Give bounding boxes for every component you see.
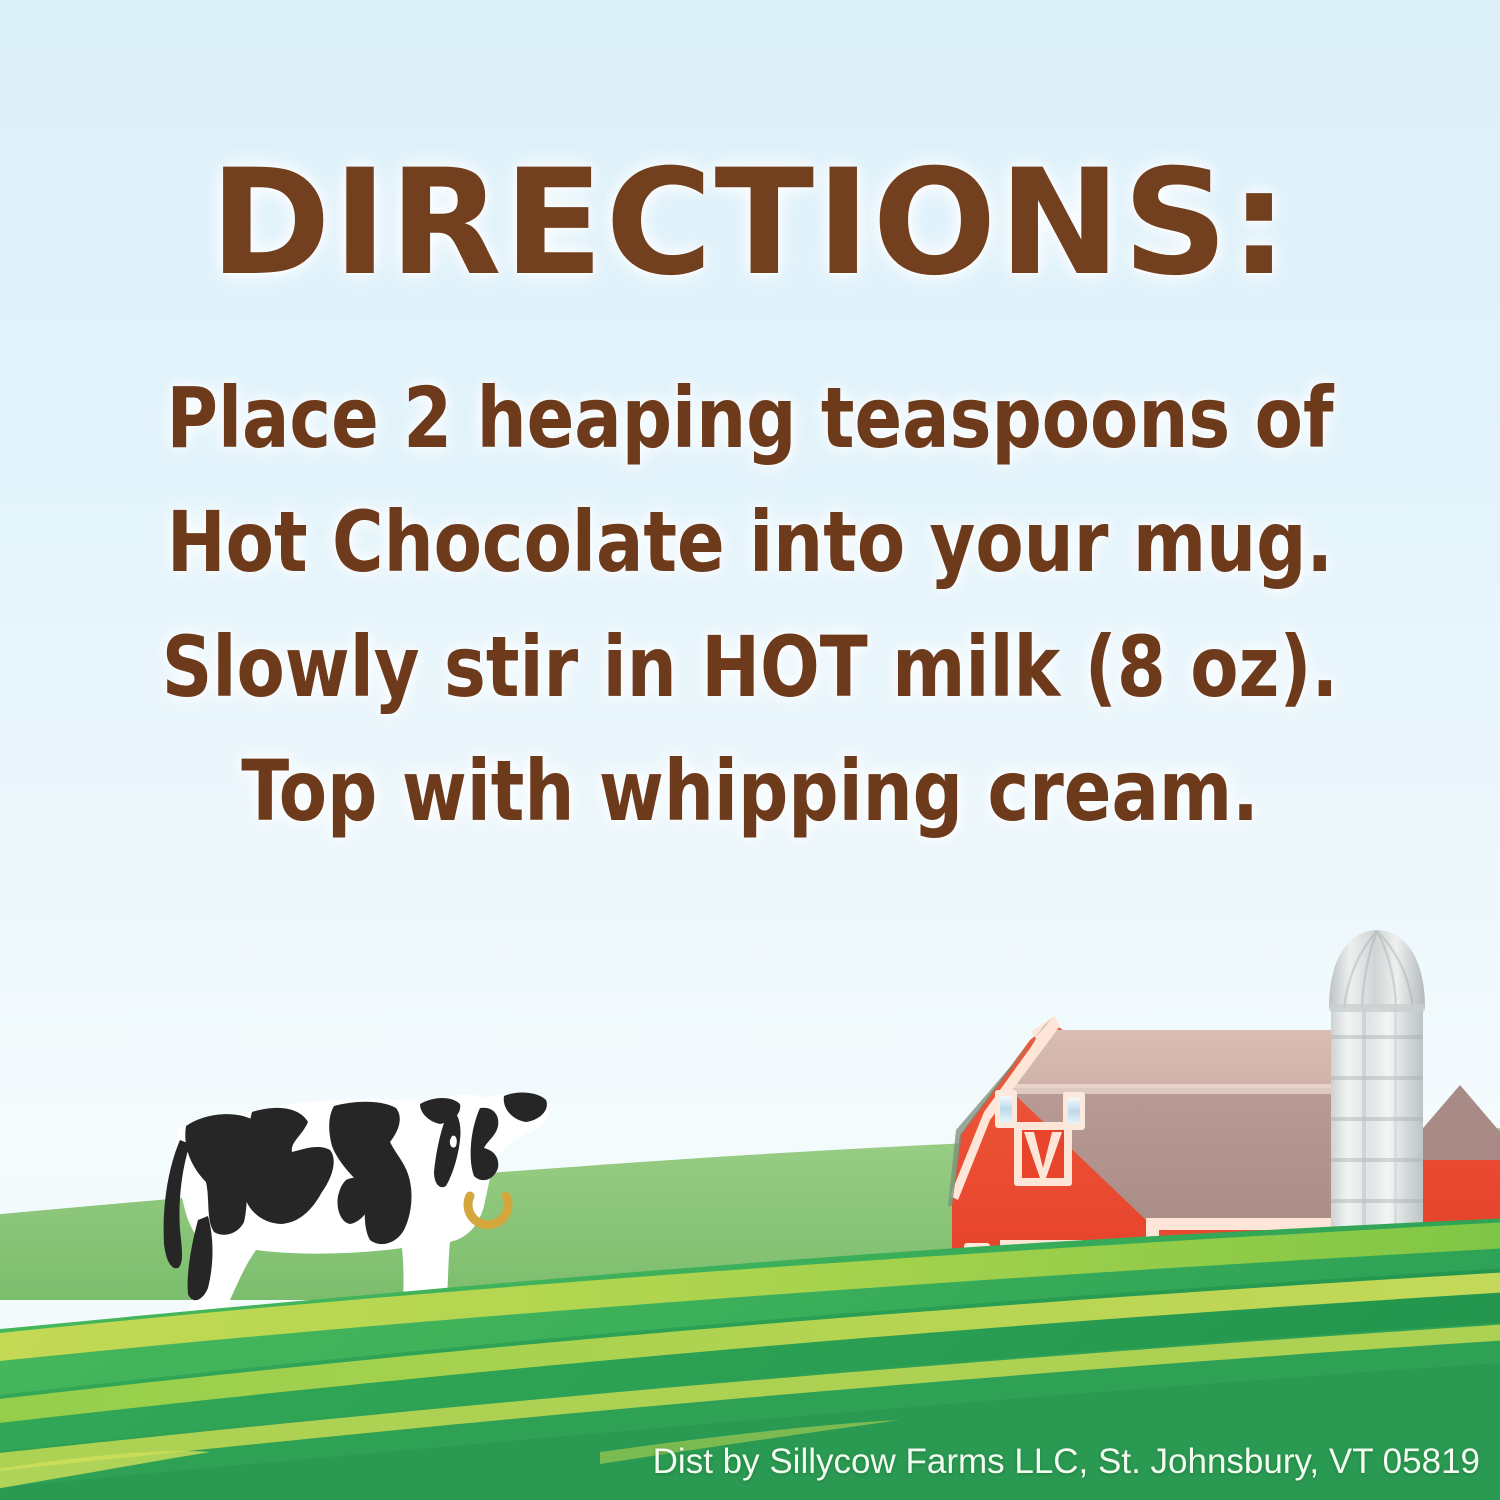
directions-lines: Place 2 heaping teaspoons of Hot Chocola… xyxy=(0,356,1500,853)
directions-line-1: Place 2 heaping teaspoons of xyxy=(53,356,1448,480)
directions-text-block: DIRECTIONS: Place 2 heaping teaspoons of… xyxy=(0,150,1500,853)
product-label-panel: DIRECTIONS: Place 2 heaping teaspoons of… xyxy=(0,0,1500,1500)
distributor-footer: Dist by Sillycow Farms LLC, St. Johnsbur… xyxy=(653,1442,1480,1482)
hayloft-opening xyxy=(1014,1122,1072,1186)
directions-line-4: Top with whipping cream. xyxy=(53,729,1448,853)
page-title: DIRECTIONS: xyxy=(0,150,1500,296)
directions-line-2: Hot Chocolate into your mug. xyxy=(53,480,1448,604)
directions-line-3: Slowly stir in HOT milk (8 oz). xyxy=(53,605,1448,729)
